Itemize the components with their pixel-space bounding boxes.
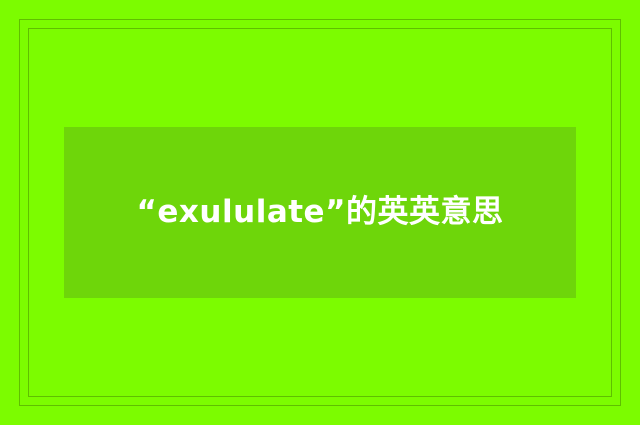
banner-canvas: “exululate”的英英意思	[0, 0, 640, 425]
banner-title: “exululate”的英英意思	[137, 185, 504, 239]
title-plate: “exululate”的英英意思	[64, 127, 576, 298]
